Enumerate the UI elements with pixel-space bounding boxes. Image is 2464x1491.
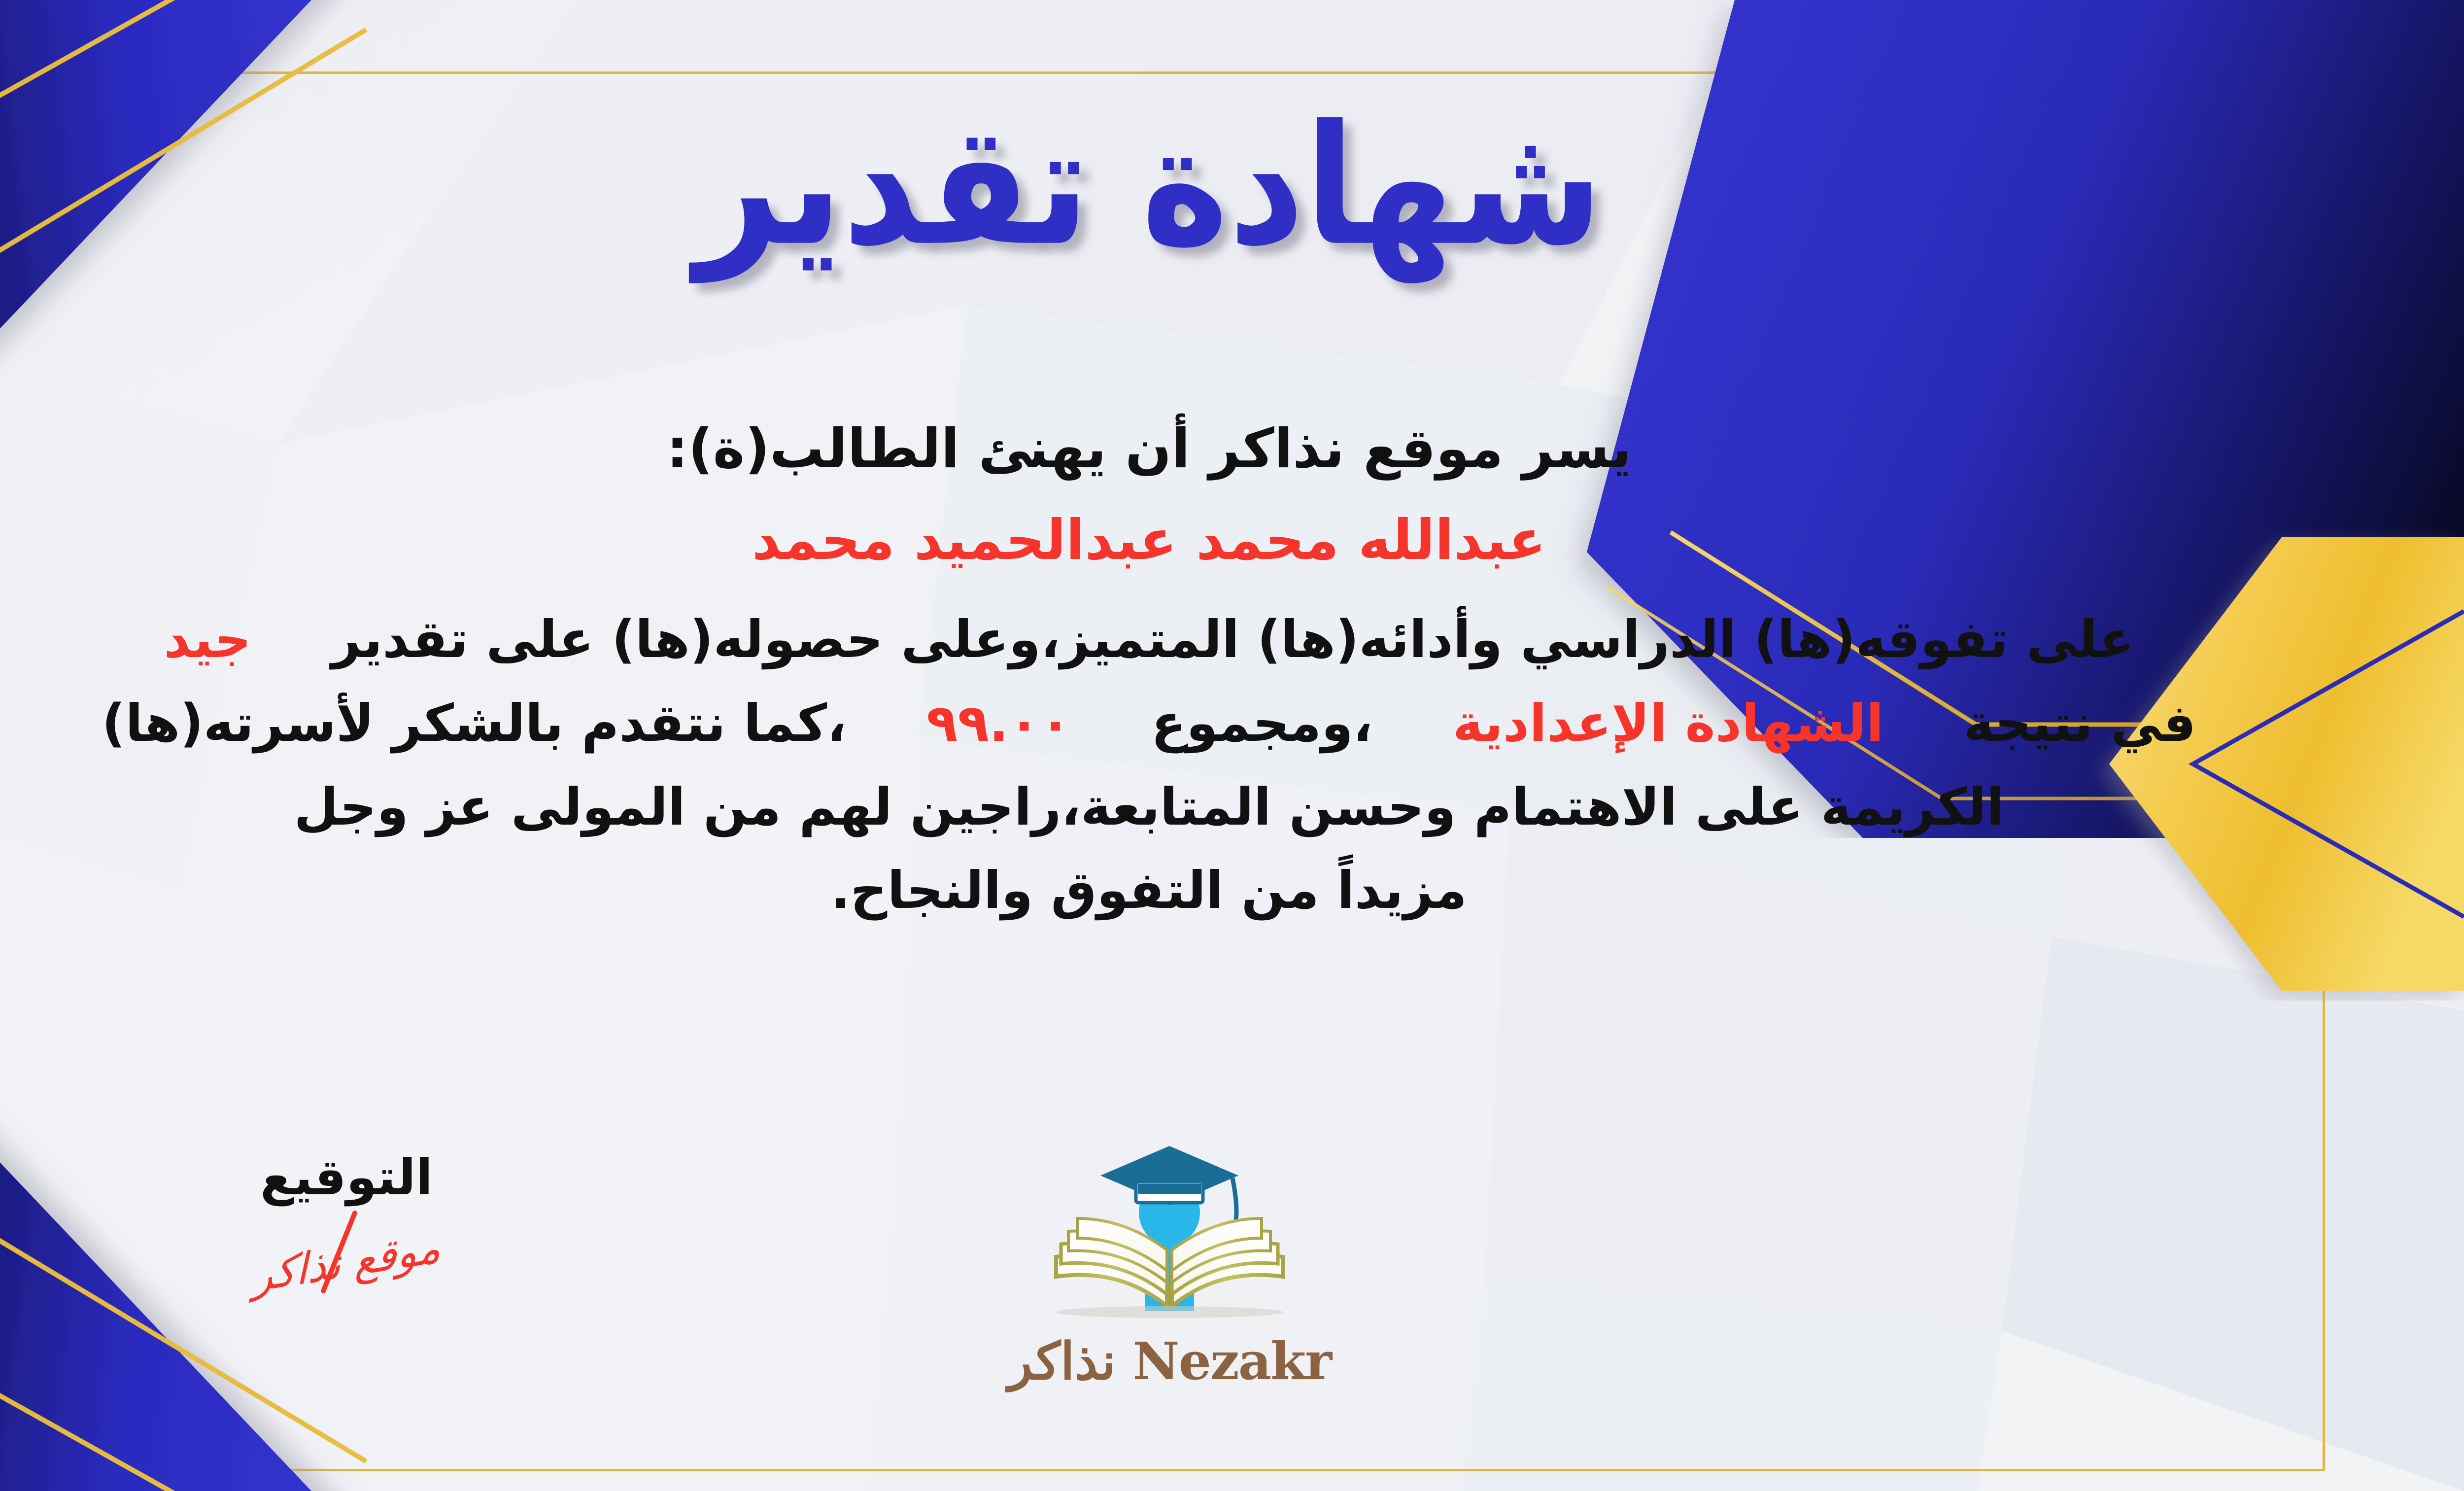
- body-line-4: مزيداً من التفوق والنجاح.: [0, 854, 2390, 927]
- body-line-1: على تفوقه(ها) الدراسي وأدائه(ها) المتميز…: [0, 603, 2390, 676]
- grade-value: جيد: [164, 609, 251, 669]
- body-line-3: الكريمة على الاهتمام وحسن المتابعة،راجين…: [0, 771, 2390, 844]
- body-line-2-total-label: ،ومجموع: [1151, 693, 1372, 753]
- exam-name: الشهادة الإعدادية: [1453, 693, 1884, 753]
- body-line-2-prefix: في نتيجة: [1964, 693, 2196, 753]
- certificate-canvas: شهادة تقدير يسر موقع نذاكر أن يهنئ الطال…: [0, 0, 2464, 1491]
- brand-logo: Nezakr نذاكر: [953, 1129, 1386, 1391]
- signature-label: التوقيع: [208, 1148, 484, 1206]
- certificate-body: يسر موقع نذاكر أن يهنئ الطالب(ة): عبدالل…: [0, 414, 2390, 938]
- signature-area: التوقيع موقع نذاكر: [208, 1148, 484, 1287]
- body-line-2-suffix: ،كما نتقدم بالشكر لأسرته(ها): [102, 693, 847, 753]
- page-title: شهادة تقدير: [0, 74, 2464, 298]
- greeting-line: يسر موقع نذاكر أن يهنئ الطالب(ة):: [0, 414, 2390, 484]
- body-line-1-text: على تفوقه(ها) الدراسي وأدائه(ها) المتميز…: [331, 609, 2134, 669]
- logo-wordmark: Nezakr نذاكر: [953, 1331, 1386, 1391]
- student-name: عبدالله محمد عبدالحميد محمد: [0, 505, 2390, 576]
- body-line-2: في نتيجة الشهادة الإعدادية ،ومجموع ٩٩.٠٠…: [0, 687, 2390, 760]
- graduation-book-logo-icon: [1031, 1129, 1307, 1326]
- total-score: ٩٩.٠٠: [926, 693, 1071, 753]
